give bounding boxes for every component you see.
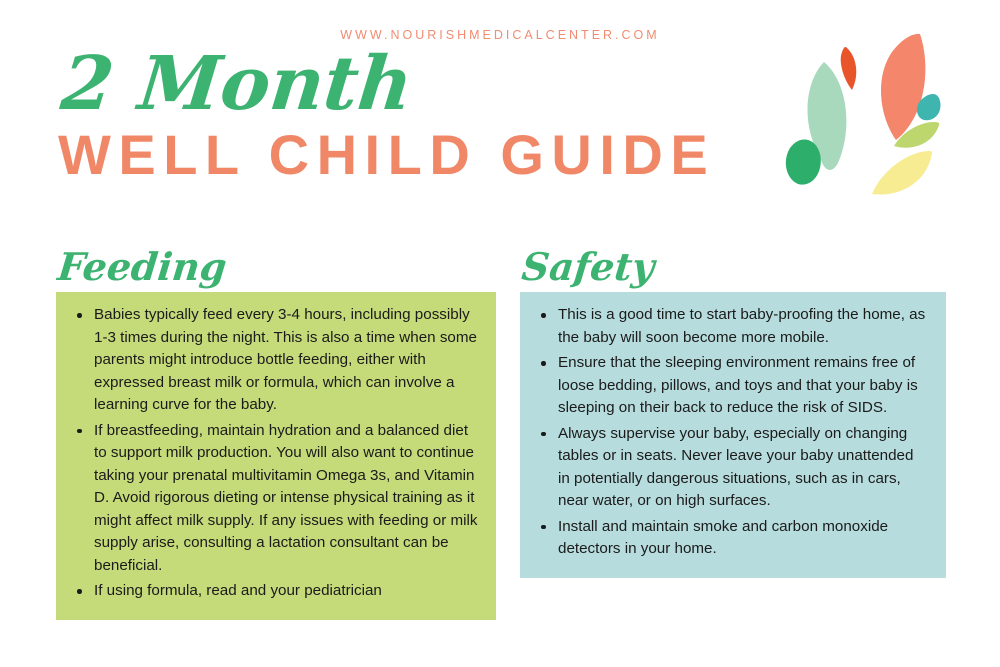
list-item: If breastfeeding, maintain hydration and… xyxy=(92,420,478,578)
section-heading-safety: Safety xyxy=(520,248,950,286)
section-safety: Safety This is a good time to start baby… xyxy=(520,248,946,578)
section-heading-feeding: Feeding xyxy=(56,248,500,286)
list-item: Babies typically feed every 3-4 hours, i… xyxy=(92,304,478,417)
feeding-bullet-list: Babies typically feed every 3-4 hours, i… xyxy=(66,304,478,603)
title-block: 2 Month WELL CHILD GUIDE xyxy=(58,48,778,183)
yellow-leaf-icon xyxy=(872,151,932,195)
list-item: Ensure that the sleeping environment rem… xyxy=(556,352,928,420)
panel-safety: This is a good time to start baby-proofi… xyxy=(520,292,946,578)
page-title: WELL CHILD GUIDE xyxy=(58,127,778,183)
section-feeding: Feeding Babies typically feed every 3-4 … xyxy=(56,248,496,620)
list-item: This is a good time to start baby-proofi… xyxy=(556,304,928,349)
list-item: Always supervise your baby, especially o… xyxy=(556,423,928,513)
well-child-guide-page: WWW.NOURISHMEDICALCENTER.COM 2 Month WEL… xyxy=(0,0,1000,667)
salmon-leaf-icon xyxy=(881,34,925,140)
list-item: If using formula, read and your pediatri… xyxy=(92,580,478,603)
leaf-cluster-logo xyxy=(784,22,984,222)
safety-bullet-list: This is a good time to start baby-proofi… xyxy=(530,304,928,561)
list-item: Install and maintain smoke and carbon mo… xyxy=(556,516,928,561)
orange-leaf-icon xyxy=(841,47,857,90)
panel-feeding: Babies typically feed every 3-4 hours, i… xyxy=(56,292,496,620)
page-title-script: 2 Month xyxy=(58,48,786,121)
dark-green-leaf-icon xyxy=(786,139,821,184)
